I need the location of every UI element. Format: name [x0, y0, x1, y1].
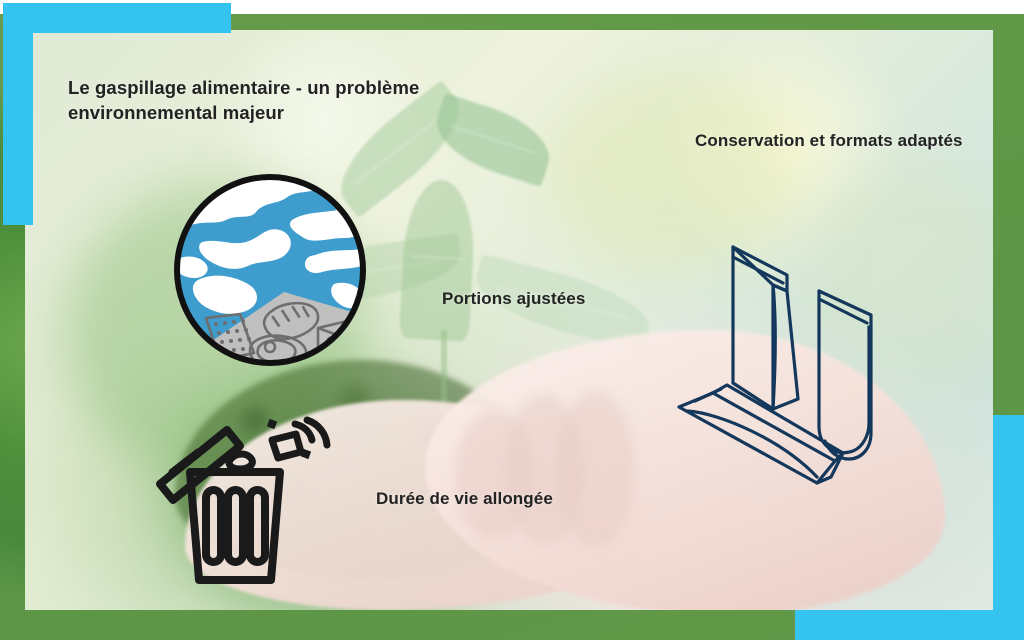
bin-slot-1 [206, 490, 221, 562]
label-duree: Durée de vie allongée [376, 489, 553, 509]
flat-doypack-pouch [819, 291, 871, 459]
top-left-bracket-horizontal [3, 3, 231, 33]
globe-with-wasted-food-icon [168, 168, 372, 372]
bin-slot-2 [228, 490, 243, 562]
debris-2 [272, 434, 301, 458]
seedling-leaf-5 [399, 178, 477, 341]
bottom-right-bracket-vertical [993, 415, 1024, 610]
bottom-right-bracket-horizontal [795, 610, 1024, 640]
infographic-canvas: Le gaspillage alimentaire - un problème … [0, 0, 1024, 640]
top-left-bracket-vertical [3, 3, 33, 225]
debris-spark-1 [267, 419, 277, 429]
label-conservation: Conservation et formats adaptés [695, 128, 970, 153]
bin-slot-3 [250, 490, 265, 562]
debris-1 [229, 454, 252, 469]
stand-up-pouch-gusseted [733, 247, 798, 409]
finger-3 [555, 392, 635, 547]
label-portions: Portions ajustées [442, 289, 585, 309]
page-title: Le gaspillage alimentaire - un problème … [68, 75, 508, 125]
flexible-packaging-pouches-icon [665, 235, 915, 490]
trash-bin-with-falling-waste-icon [152, 412, 332, 590]
